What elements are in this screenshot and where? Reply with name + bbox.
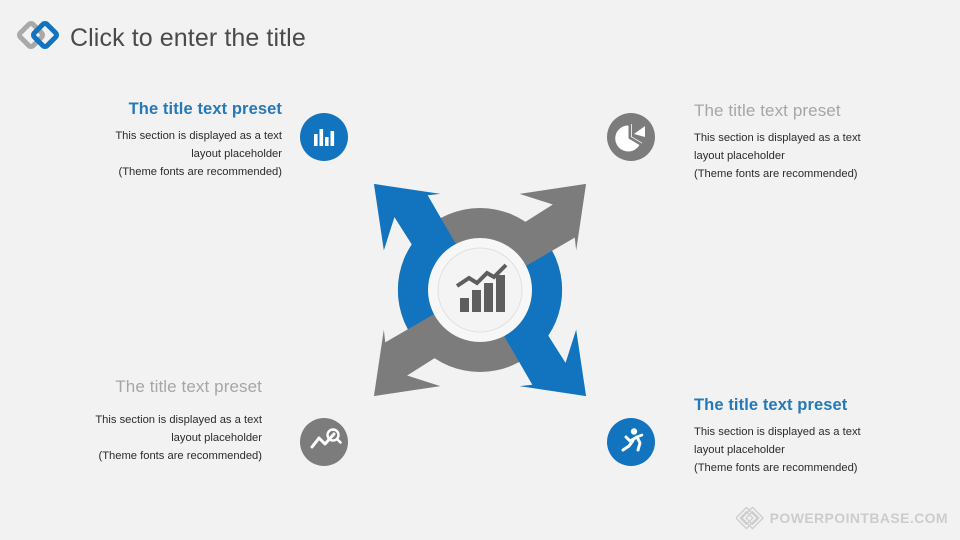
hub-center[interactable] — [428, 238, 532, 342]
block-title-top-left[interactable]: The title text preset — [52, 100, 282, 119]
block-body-top-left[interactable]: This section is displayed as a text layo… — [52, 127, 282, 181]
double-diamond-logo-icon — [14, 18, 62, 58]
node-bottom-left[interactable] — [296, 414, 352, 470]
node-bottom-right[interactable] — [603, 414, 659, 470]
node-top-right[interactable] — [603, 109, 659, 165]
radial-diagram — [268, 90, 692, 490]
watermark-text: POWERPOINTBASE.COM — [770, 510, 948, 526]
block-body-bottom-right[interactable]: This section is displayed as a text layo… — [694, 423, 924, 477]
text-block-bottom-left[interactable]: The title text preset This section is di… — [32, 377, 262, 465]
watermark: POWERPOINTBASE.COM — [736, 506, 948, 530]
slide-canvas: Click to enter the title The title text … — [0, 0, 960, 540]
block-title-bottom-left[interactable]: The title text preset — [32, 377, 262, 397]
block-title-bottom-right[interactable]: The title text preset — [694, 396, 924, 415]
block-body-line: This section is displayed as a text — [694, 423, 924, 441]
block-body-line: layout placeholder — [694, 147, 924, 165]
text-block-top-left[interactable]: The title text preset This section is di… — [52, 100, 282, 181]
text-block-top-right[interactable]: The title text preset This section is di… — [694, 101, 924, 183]
block-body-bottom-left[interactable]: This section is displayed as a text layo… — [32, 411, 262, 465]
block-body-top-right[interactable]: This section is displayed as a text layo… — [694, 129, 924, 183]
block-body-line: layout placeholder — [52, 145, 282, 163]
block-body-line: This section is displayed as a text — [32, 411, 262, 429]
block-body-line: layout placeholder — [694, 441, 924, 459]
node-top-left[interactable] — [296, 109, 352, 165]
text-block-bottom-right[interactable]: The title text preset This section is di… — [694, 396, 924, 477]
block-body-line: (Theme fonts are recommended) — [52, 163, 282, 181]
nested-diamond-logo-icon — [736, 506, 764, 530]
block-body-line: This section is displayed as a text — [694, 129, 924, 147]
block-body-line: (Theme fonts are recommended) — [694, 165, 924, 183]
slide-title-bar: Click to enter the title — [14, 18, 306, 58]
page-title[interactable]: Click to enter the title — [70, 24, 306, 53]
block-body-line: This section is displayed as a text — [52, 127, 282, 145]
block-title-top-right[interactable]: The title text preset — [694, 101, 924, 121]
block-body-line: (Theme fonts are recommended) — [694, 459, 924, 477]
block-body-line: layout placeholder — [32, 429, 262, 447]
block-body-line: (Theme fonts are recommended) — [32, 447, 262, 465]
